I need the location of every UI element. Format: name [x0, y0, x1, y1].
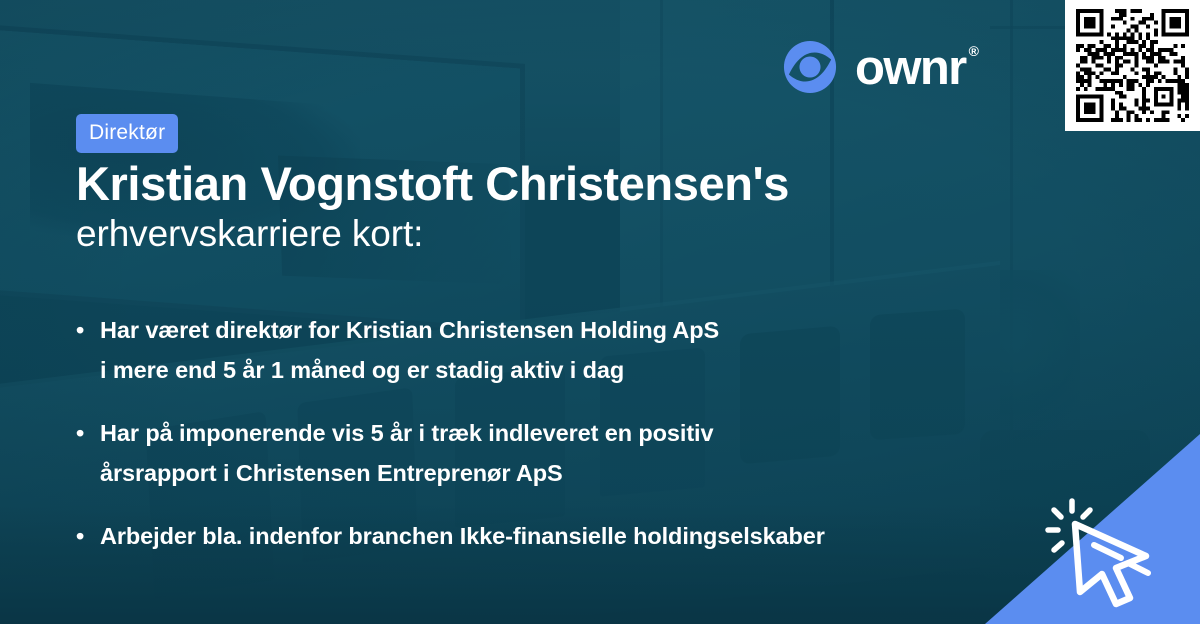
- career-highlights-list: •Har været direktør for Kristian Christe…: [76, 310, 976, 579]
- list-item-text: Arbejder bla. indenfor branchen Ikke-fin…: [100, 516, 825, 556]
- ownr-wordmark: ownr: [855, 44, 966, 93]
- registered-trademark-icon: ®: [969, 43, 979, 59]
- ownr-profile-card: Direktør Kristian Vognstoft Christensen'…: [0, 0, 1200, 624]
- list-item-line: •Har på imponerende vis 5 år i træk indl…: [76, 413, 976, 453]
- ownr-logo[interactable]: ownr ®: [779, 36, 979, 98]
- list-item: •Arbejder bla. indenfor branchen Ikke-fi…: [76, 516, 976, 556]
- list-item-line: •i mere end 5 år 1 måned og er stadig ak…: [76, 350, 976, 390]
- list-item-line: •Arbejder bla. indenfor branchen Ikke-fi…: [76, 516, 976, 556]
- bullet-dot-icon: •: [76, 310, 100, 350]
- click-cursor-icon: [1042, 488, 1192, 618]
- list-item-text: årsrapport i Christensen Entreprenør ApS: [100, 453, 563, 493]
- role-badge: Direktør: [76, 114, 178, 153]
- ownr-circle-logo-icon: [779, 36, 841, 98]
- bullet-dot-icon: •: [76, 516, 100, 556]
- list-item-text: Har været direktør for Kristian Christen…: [100, 310, 719, 350]
- list-item: •Har på imponerende vis 5 år i træk indl…: [76, 413, 976, 493]
- list-item-text: Har på imponerende vis 5 år i træk indle…: [100, 413, 713, 453]
- qr-code[interactable]: [1065, 0, 1200, 131]
- list-item-text: i mere end 5 år 1 måned og er stadig akt…: [100, 350, 624, 390]
- bullet-dot-icon: •: [76, 413, 100, 453]
- list-item-line: •årsrapport i Christensen Entreprenør Ap…: [76, 453, 976, 493]
- page-title: Kristian Vognstoft Christensen's: [76, 156, 789, 211]
- list-item-line: •Har været direktør for Kristian Christe…: [76, 310, 976, 350]
- list-item: •Har været direktør for Kristian Christe…: [76, 310, 976, 390]
- page-subtitle: erhvervskarriere kort:: [76, 213, 423, 255]
